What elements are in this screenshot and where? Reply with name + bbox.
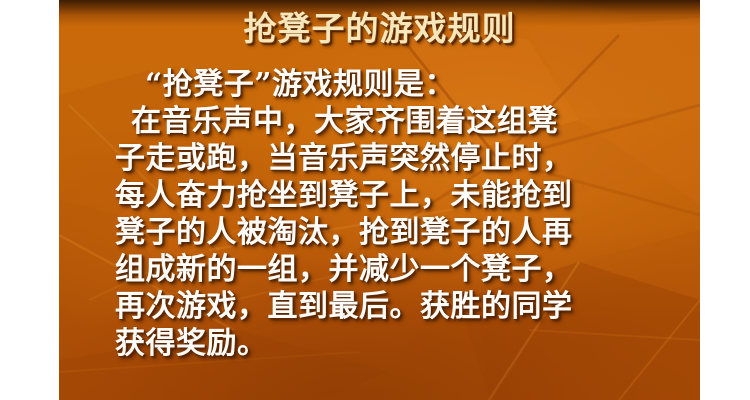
slide-title: 抢凳子的游戏规则 [59, 9, 700, 49]
body-line: 凳子的人被淘汰，抢到凳子的人再 [115, 214, 675, 251]
body-line: 获得奖励。 [115, 325, 675, 362]
body-line: 子走或跑，当音乐声突然停止时， [115, 140, 675, 177]
page-margin-right [700, 0, 750, 400]
presentation-slide-frame: 抢凳子的游戏规则 “抢凳子”游戏规则是： 在音乐声中，大家齐围着这组凳 子走或跑… [0, 0, 750, 400]
page-margin-left [0, 0, 59, 400]
body-line: 组成新的一组，并减少一个凳子， [115, 251, 675, 288]
slide-body-text: “抢凳子”游戏规则是： 在音乐声中，大家齐围着这组凳 子走或跑，当音乐声突然停止… [115, 66, 675, 362]
body-line: 在音乐声中，大家齐围着这组凳 [115, 103, 675, 140]
body-line: 每人奋力抢坐到凳子上，未能抢到 [115, 177, 675, 214]
slide-canvas: 抢凳子的游戏规则 “抢凳子”游戏规则是： 在音乐声中，大家齐围着这组凳 子走或跑… [59, 0, 700, 400]
body-line: 再次游戏，直到最后。获胜的同学 [115, 288, 675, 325]
body-line: “抢凳子”游戏规则是： [115, 66, 675, 103]
